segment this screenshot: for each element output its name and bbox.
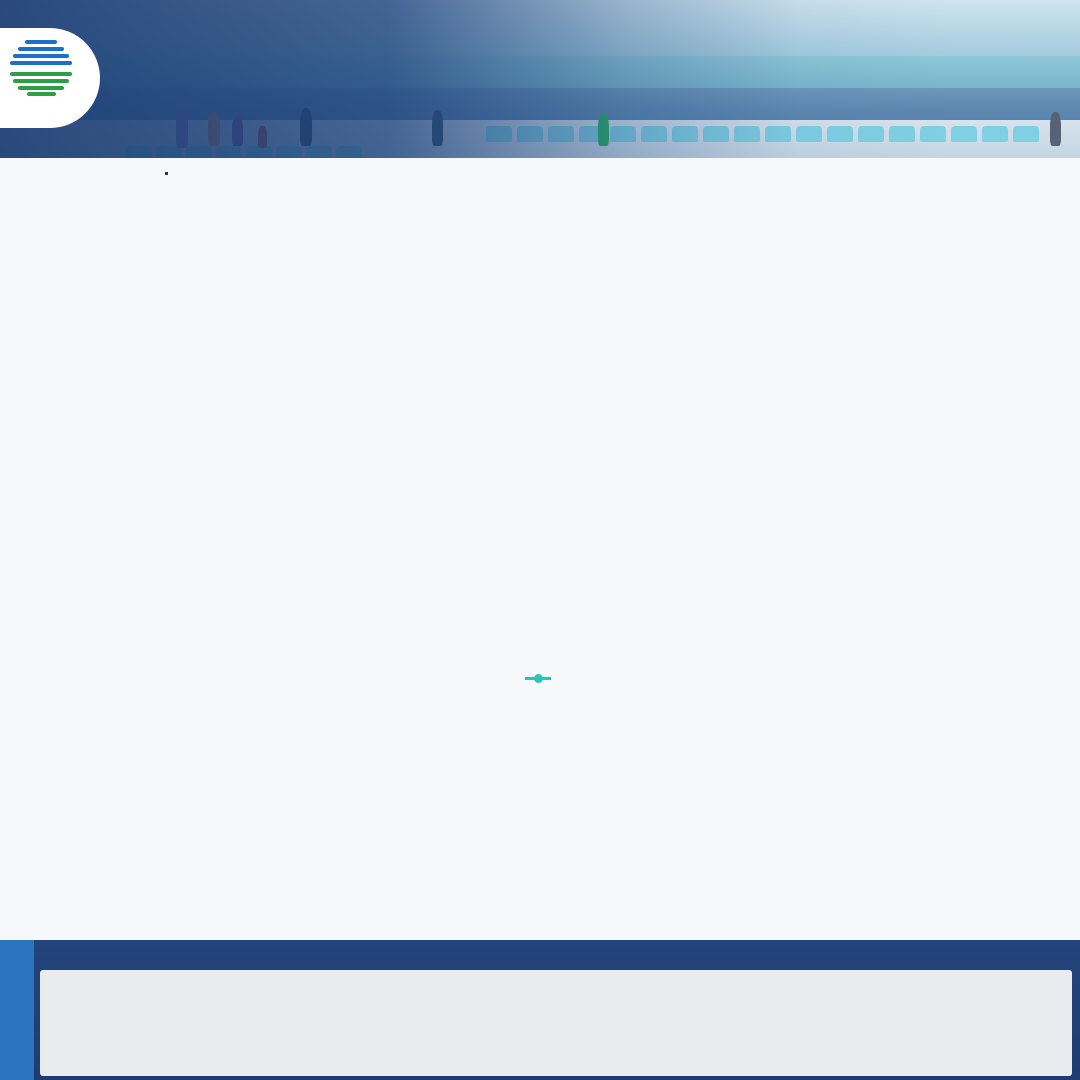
page-header	[0, 0, 1080, 158]
decorative-dot	[165, 172, 168, 175]
sst-line-chart	[22, 560, 1062, 665]
chart-legend-marker	[525, 677, 551, 680]
chart-legend	[0, 670, 1080, 685]
header-gradient-overlay	[0, 0, 1080, 158]
legend-item-list	[40, 970, 1072, 1076]
legend-bar	[0, 940, 1080, 1080]
bmkg-logo	[0, 28, 100, 128]
title-block	[0, 160, 1080, 172]
bmkg-logo-mark	[9, 36, 73, 96]
legend-side-label	[0, 940, 34, 1080]
